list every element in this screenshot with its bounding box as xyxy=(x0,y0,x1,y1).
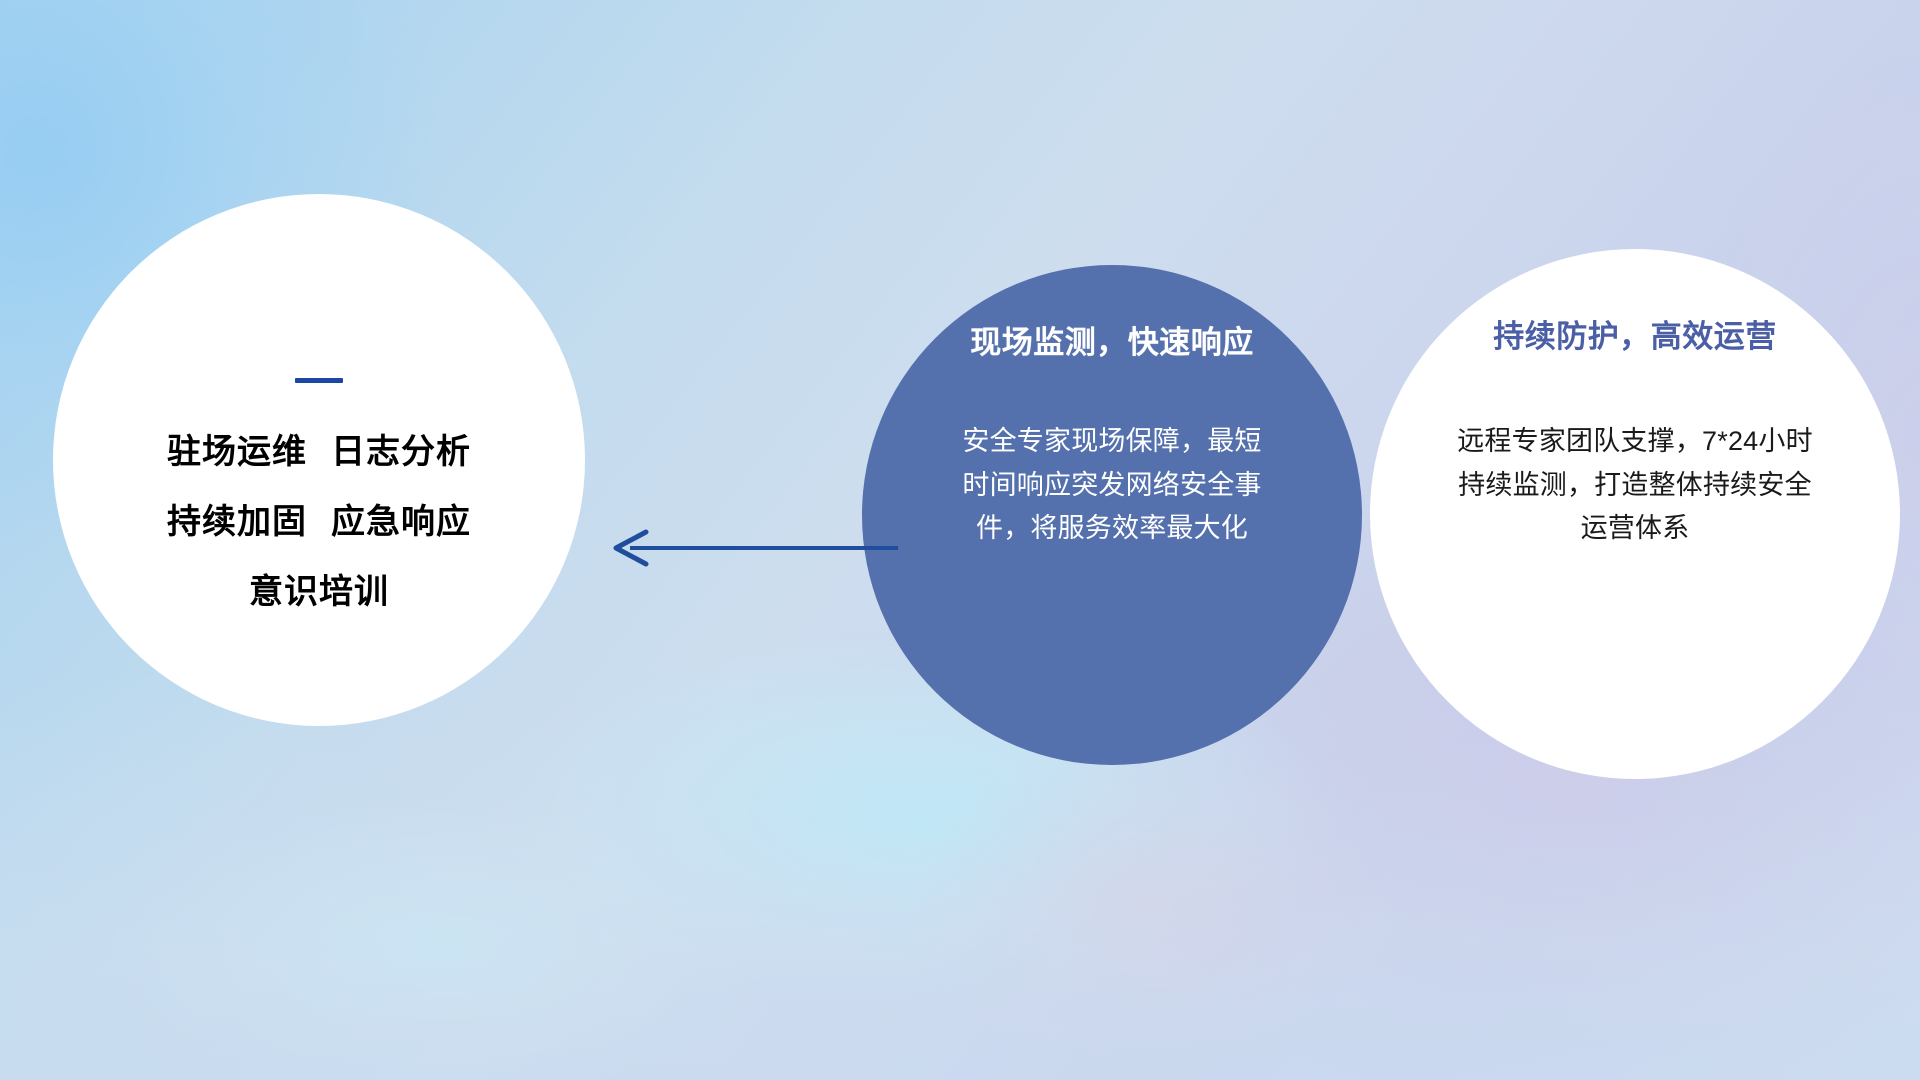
slide-canvas: 驻场运维日志分析 持续加固应急响应 意识培训 现场监测，快速响应 安全专家现场保… xyxy=(0,0,1920,1080)
divider-dash-icon xyxy=(295,378,343,383)
arrow-icon xyxy=(600,524,900,572)
service-item-rizhifenxi: 日志分析 xyxy=(331,433,471,471)
continuous-protection-title: 持续防护，高效运营 xyxy=(1493,311,1777,356)
onsite-monitoring-title: 现场监测，快速响应 xyxy=(970,317,1254,362)
onsite-monitoring-body: 安全专家现场保障，最短时间响应突发网络安全事件，将服务效率最大化 xyxy=(962,420,1262,551)
continuous-protection-circle: 持续防护，高效运营 远程专家团队支撑，7*24小时持续监测，打造整体持续安全运营… xyxy=(1370,249,1900,779)
driver-service-circle: 驻场运维日志分析 持续加固应急响应 意识培训 xyxy=(53,194,585,726)
service-item-yingjixiangying: 应急响应 xyxy=(331,503,471,541)
service-item-chixujiagu: 持续加固 xyxy=(167,503,307,541)
service-line-1: 驻场运维日志分析 xyxy=(167,435,471,469)
service-item-yishipeixun: 意识培训 xyxy=(249,573,389,611)
service-line-2: 持续加固应急响应 xyxy=(167,505,471,539)
service-line-3: 意识培训 xyxy=(249,575,389,609)
onsite-monitoring-circle: 现场监测，快速响应 安全专家现场保障，最短时间响应突发网络安全事件，将服务效率最… xyxy=(862,265,1362,765)
service-item-zhuchangyunwei: 驻场运维 xyxy=(167,433,307,471)
leftward-flow-arrow xyxy=(600,524,900,572)
continuous-protection-body: 远程专家团队支撑，7*24小时持续监测，打造整体持续安全运营体系 xyxy=(1454,420,1816,551)
